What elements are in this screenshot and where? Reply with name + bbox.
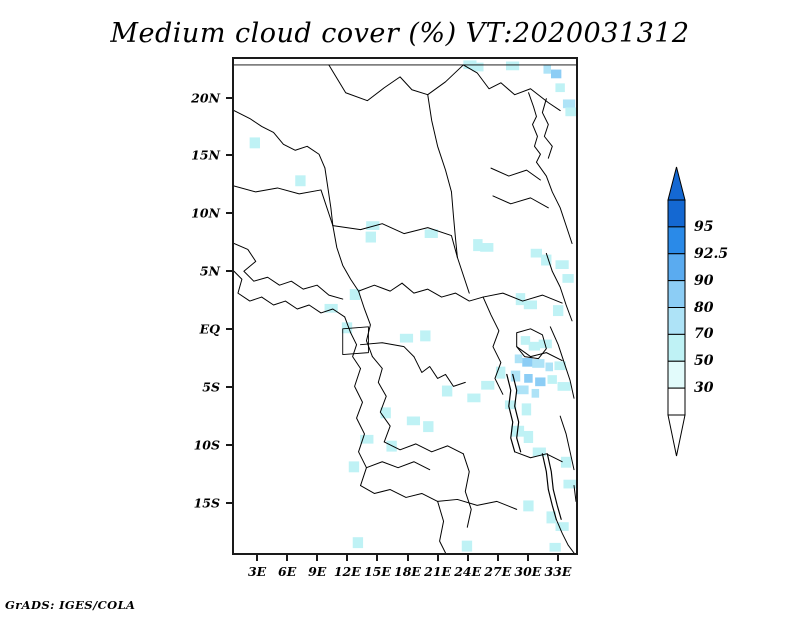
cloud-cell	[548, 375, 557, 384]
y-tick-label: 10S	[162, 437, 220, 452]
cloud-cell	[366, 221, 379, 230]
cloud-cell	[407, 417, 420, 426]
x-tick-mark	[286, 555, 288, 561]
cloud-cell	[467, 394, 480, 403]
y-tick-mark	[226, 386, 232, 388]
cloud-cell	[531, 249, 542, 258]
cloud-cell	[400, 334, 413, 343]
cloud-cell	[561, 457, 571, 468]
y-tick-mark	[226, 97, 232, 99]
cloud-cell	[472, 63, 483, 72]
cloud-cell	[516, 385, 528, 394]
cloud-cell	[565, 107, 576, 116]
cloud-cell	[545, 363, 553, 372]
y-tick-mark	[226, 444, 232, 446]
y-tick-mark	[226, 328, 232, 330]
cloud-cell	[353, 537, 363, 548]
cloud-cell	[543, 65, 551, 74]
cloud-cell	[380, 407, 390, 418]
cloud-cell	[423, 421, 433, 432]
colorbar-tick-label: 90	[694, 273, 713, 289]
cloud-cell	[511, 371, 520, 382]
cloud-cell	[349, 461, 359, 472]
colorbar-band	[668, 200, 685, 227]
colorbar-tick-label: 30	[694, 380, 713, 396]
cloud-cell	[515, 354, 523, 363]
cloud-cell	[556, 260, 569, 269]
cloud-cell	[553, 305, 563, 316]
colorbar-top-arrow	[668, 167, 685, 200]
cloud-cell	[386, 441, 396, 452]
x-tick-label: 33E	[538, 564, 578, 579]
cloud-cell	[562, 274, 573, 283]
x-tick-mark	[346, 555, 348, 561]
colorbar-tick-label: 70	[694, 326, 713, 342]
cloud-cell	[420, 330, 430, 341]
y-tick-mark	[226, 502, 232, 504]
colorbar-band	[668, 308, 685, 335]
y-tick-label: 15S	[162, 495, 220, 510]
cloud-cell	[563, 99, 575, 108]
cloud-cell	[481, 381, 494, 390]
page-title: Medium cloud cover (%) VT:2020031312	[0, 18, 800, 49]
y-tick-label: 5S	[162, 380, 220, 395]
cloud-cell	[550, 543, 561, 552]
y-tick-label: 20N	[162, 90, 220, 105]
cloud-cell	[442, 386, 452, 397]
colorbar-tick-label: 50	[694, 353, 713, 369]
colorbar-bottom-arrow	[668, 415, 685, 456]
x-tick-mark	[376, 555, 378, 561]
colorbar-tick-label: 92.5	[694, 246, 728, 262]
colorbar-band	[668, 388, 685, 415]
cloud-cell	[480, 243, 493, 252]
y-tick-mark	[226, 212, 232, 214]
grads-credit: GrADS: IGES/COLA	[5, 598, 135, 612]
cloud-cell	[250, 137, 260, 148]
cloud-cell	[523, 500, 533, 511]
x-tick-mark	[527, 555, 529, 561]
colorbar-tick-label: 95	[694, 219, 713, 235]
colorbar-band	[668, 361, 685, 388]
x-tick-mark	[497, 555, 499, 561]
cloud-cell	[532, 359, 544, 368]
cloud-cell	[535, 377, 545, 386]
x-tick-mark	[467, 555, 469, 561]
map-plot-area	[232, 57, 578, 555]
cloud-cell	[462, 541, 472, 552]
y-tick-label: 5N	[162, 264, 220, 279]
cloud-cell	[295, 175, 305, 186]
cloud-cell	[551, 70, 561, 79]
cloud-cell	[366, 232, 376, 243]
y-tick-mark	[226, 270, 232, 272]
cloud-cell	[555, 83, 564, 92]
y-tick-label: 10N	[162, 206, 220, 221]
cloud-cover-field	[250, 60, 576, 551]
colorbar-band	[668, 281, 685, 308]
cloud-cell	[533, 448, 546, 457]
cloud-cell	[532, 389, 540, 398]
grads-plot-page: Medium cloud cover (%) VT:2020031312	[0, 0, 800, 618]
x-tick-mark	[316, 555, 318, 561]
colorbar-band	[668, 334, 685, 361]
cloud-cell	[524, 300, 537, 309]
cloud-cell	[522, 403, 531, 415]
cloud-cell	[522, 358, 532, 367]
colorbar-band	[668, 254, 685, 281]
cloud-cell	[524, 374, 532, 383]
colorbar-tick-label: 80	[694, 300, 713, 316]
x-tick-mark	[557, 555, 559, 561]
x-tick-mark	[437, 555, 439, 561]
cloud-cell	[529, 342, 540, 351]
x-tick-mark	[407, 555, 409, 561]
cloud-cell	[524, 431, 533, 443]
y-tick-label: EQ	[162, 322, 220, 337]
y-tick-label: 15N	[162, 148, 220, 163]
cloud-cell	[506, 62, 519, 71]
colorbar-legend: 9592.59080705030	[660, 160, 795, 465]
map-canvas	[234, 59, 576, 553]
colorbar-band	[668, 227, 685, 254]
cloud-cell	[558, 382, 571, 391]
y-tick-mark	[226, 154, 232, 156]
x-tick-mark	[256, 555, 258, 561]
